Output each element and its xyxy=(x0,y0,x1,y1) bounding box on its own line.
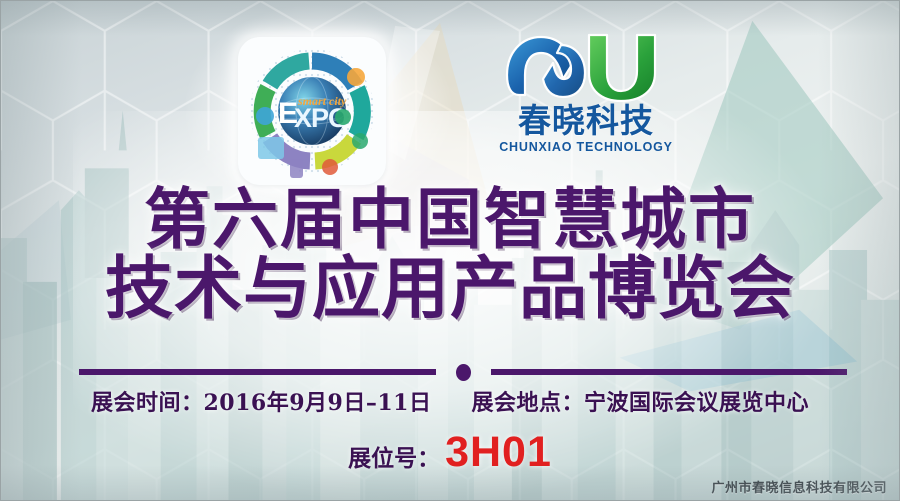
chunxiao-english-name: CHUNXIAO TECHNOLOGY xyxy=(488,140,684,154)
event-date: 展会时间：2016年9月9日–11日 xyxy=(91,385,431,417)
booth-number-label: 展位号： xyxy=(348,439,440,473)
divider-bar-right xyxy=(491,369,848,375)
booth-number-row: 展位号： 3H01 xyxy=(1,431,899,474)
event-info-row: 展会时间：2016年9月9日–11日 展会地点：宁波国际会议展览中心 xyxy=(1,385,899,417)
purple-divider xyxy=(79,365,847,379)
headline-line-1: 第六届中国智慧城市 xyxy=(1,187,899,252)
expo-banner: E XPO smart city xyxy=(0,0,900,501)
divider-dot-icon xyxy=(456,364,471,381)
page-title: 第六届中国智慧城市 技术与应用产品博览会 xyxy=(1,187,899,322)
divider-bar-left xyxy=(79,369,436,375)
svg-text:smart city: smart city xyxy=(297,94,347,108)
smart-city-expo-logo: E XPO smart city xyxy=(238,37,386,185)
event-venue: 展会地点：宁波国际会议展览中心 xyxy=(471,385,809,417)
chunxiao-chinese-name: 春晓科技 xyxy=(488,104,684,139)
footer-company-name: 广州市春晓信息科技有限公司 xyxy=(711,477,887,496)
booth-number-value: 3H01 xyxy=(445,431,552,474)
chunxiao-technology-logo: 春晓科技 CHUNXIAO TECHNOLOGY xyxy=(488,27,684,167)
headline-line-2: 技术与应用产品博览会 xyxy=(1,256,899,323)
chunxiao-mark-icon xyxy=(501,27,671,103)
